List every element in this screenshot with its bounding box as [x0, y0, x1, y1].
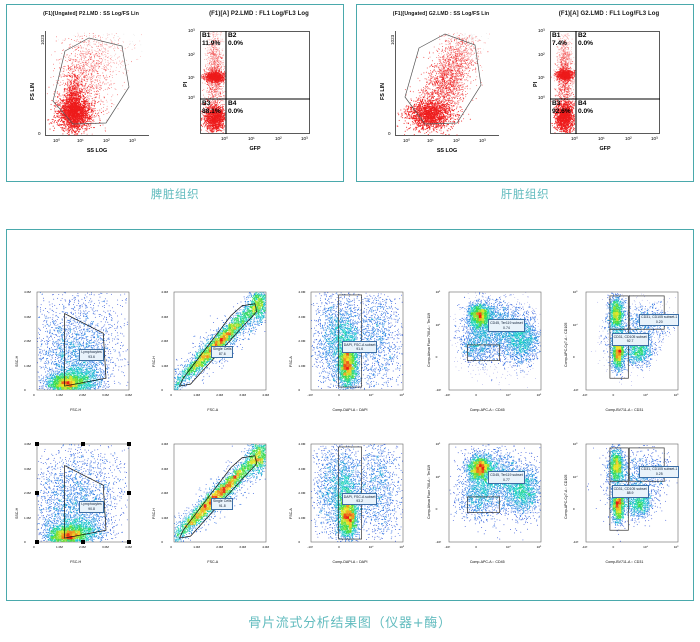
- y-tick: 0: [573, 355, 575, 359]
- gate-label[interactable]: Single Cells87.6: [211, 346, 233, 358]
- y-tick: 2.0M: [161, 491, 168, 495]
- x-tick: 10³: [479, 138, 486, 143]
- x-tick: 0: [33, 393, 35, 397]
- y-tick: 10¹: [538, 75, 545, 80]
- x-tick: 0: [475, 545, 477, 549]
- y-axis-label: FSC-A: [289, 356, 293, 367]
- selection-handle[interactable]: [127, 540, 131, 544]
- gate-name: CD45, Ter119 subset: [490, 321, 523, 326]
- x-tick: 0: [338, 393, 340, 397]
- y-tick: 10⁴: [573, 475, 578, 479]
- y-tick: 10²: [188, 52, 195, 57]
- y-axis-label: FSC-H: [152, 508, 156, 519]
- gate-percent: 93.2: [344, 499, 376, 504]
- y-axis-label: FS LIN: [380, 83, 386, 100]
- x-tick: -10³: [582, 545, 588, 549]
- quadrant-B1: B1 11.9%: [202, 32, 220, 47]
- flow-cytometry-figure: (F1)[Ungated] P2.LMD : SS Log/FS Lin 10⁰…: [0, 0, 700, 642]
- gate-label[interactable]: DAPI, FSC-A subset93.2: [342, 493, 378, 505]
- y-tick: 3.0M: [298, 315, 305, 319]
- gate-percent: 91.8: [213, 504, 231, 509]
- figure-caption: 骨片流式分析结果图（仪器+酶）: [0, 612, 700, 631]
- flow-plot-singlecells[interactable]: Single Cells87.6FSC-AFSC-H01.0M2.0M3.0M4…: [144, 278, 281, 428]
- quadrant-name: B4: [228, 100, 236, 107]
- y-tick: 10⁴: [573, 323, 578, 327]
- x-tick: 0: [338, 545, 340, 549]
- plot-row-1: Lymphocytes90.8FSC-HSSC-H01.0M2.0M3.0M4.…: [7, 430, 693, 580]
- y-tick: -10³: [573, 540, 579, 544]
- quadrant-B3: B3 92.6%: [552, 100, 571, 115]
- quadrant-plot-spleen: (F1)[A] P2.LMD : FL1 Log/FL3 Log B1 11.9…: [175, 5, 343, 181]
- flow-plot-lymphocytes[interactable]: Lymphocytes90.8FSC-HSSC-H01.0M2.0M3.0M4.…: [7, 430, 144, 580]
- y-tick: 0: [24, 540, 26, 544]
- y-tick: 1.0M: [24, 364, 31, 368]
- flow-plot-lymphocytes[interactable]: Lymphocytes93.6FSC-HSSC-H01.0M2.0M3.0M4.…: [7, 278, 144, 428]
- quadrant-B1: B1 7.4%: [552, 32, 567, 47]
- gate-label[interactable]: CD31, CD105 subset92.7: [612, 333, 649, 345]
- gate-label[interactable]: CD45, Ter119 subset0.74: [488, 319, 525, 331]
- gate-label[interactable]: Lymphocytes90.8: [79, 501, 104, 513]
- y-axis-label: SSC-H: [15, 508, 19, 519]
- quadrant-B2: B2 0.0%: [228, 32, 243, 47]
- selection-handle[interactable]: [35, 442, 39, 446]
- x-tick: 10⁵: [537, 545, 542, 549]
- x-tick: 10⁴: [643, 545, 648, 549]
- x-tick: 10⁴: [506, 545, 511, 549]
- x-tick: 0: [170, 545, 172, 549]
- x-tick: 10⁵: [399, 545, 404, 549]
- x-tick: 4.0M: [262, 393, 269, 397]
- x-axis-label: Comp-DAPI-A :: DAPI: [281, 408, 418, 412]
- x-tick: -10³: [445, 545, 451, 549]
- x-tick: 0: [170, 393, 172, 397]
- y-axis-label: Comp-APC-Cy7-A :: CD105: [564, 475, 568, 519]
- y-tick: 10³: [538, 28, 545, 33]
- x-tick: 10¹: [248, 136, 255, 141]
- y-tick: 1023: [40, 35, 45, 45]
- quadrant-B2: B2 0.0%: [578, 32, 593, 47]
- y-tick: 0: [24, 388, 26, 392]
- quadrant-value: 92.6%: [552, 108, 571, 115]
- x-tick: 2.0M: [216, 545, 223, 549]
- quadrant-value: 11.9%: [202, 40, 220, 47]
- y-tick: 4.0M: [298, 442, 305, 446]
- y-tick: 0: [436, 355, 438, 359]
- gate-label[interactable]: DAPI, FSC-A subset91.6: [342, 341, 378, 353]
- y-tick: 10⁴: [436, 323, 441, 327]
- x-axis-label: GFP: [550, 146, 660, 152]
- x-tick: 4.0M: [262, 545, 269, 549]
- x-tick: 10⁰: [221, 136, 228, 142]
- flow-plot-cd31[interactable]: CD31, CD105 subset-10.25CD31, CD105 subs…: [556, 430, 693, 580]
- y-tick: 3.0M: [24, 315, 31, 319]
- x-tick: 10¹: [77, 138, 84, 143]
- quadrant-name: B1: [202, 32, 210, 39]
- quadrant-name: B1: [552, 32, 560, 39]
- flow-plot-dapi[interactable]: DAPI, FSC-A subset91.6Comp-DAPI-A :: DAP…: [281, 278, 418, 428]
- quadrant-value: 0.0%: [228, 40, 243, 47]
- gate-percent: 0.25: [641, 472, 677, 477]
- y-tick: 10⁵: [436, 290, 441, 294]
- x-tick: 10³: [129, 138, 136, 143]
- x-tick: 3.0M: [239, 393, 246, 397]
- gate-label[interactable]: Single Cells91.8: [211, 498, 233, 510]
- x-tick: 10³: [301, 136, 308, 141]
- x-axis-label: SS LOG: [45, 148, 149, 154]
- y-tick: 1.0M: [161, 364, 168, 368]
- y-tick: 10¹: [188, 75, 195, 80]
- y-tick: 0: [161, 388, 163, 392]
- y-axis-label: FSC-A: [289, 508, 293, 519]
- gate-percent: 91.6: [344, 347, 376, 352]
- y-tick: 10⁰: [538, 95, 545, 101]
- y-tick: 0: [161, 540, 163, 544]
- x-axis-label: FSC-A: [144, 408, 281, 412]
- y-tick: 10⁵: [573, 290, 578, 294]
- selection-handle[interactable]: [127, 442, 131, 446]
- flow-plot-dapi[interactable]: DAPI, FSC-A subset93.2Comp-DAPI-A :: DAP…: [281, 430, 418, 580]
- x-tick: 3.0M: [102, 545, 109, 549]
- quadrant-B3: B3 88.1%: [202, 100, 221, 115]
- x-tick: 10⁴: [506, 393, 511, 397]
- caption-liver: 肝脏组织: [350, 186, 700, 202]
- y-axis-label: Comp-Alexa Fluor 700-A :: Ter119: [427, 313, 431, 367]
- y-tick: 4.0M: [24, 442, 31, 446]
- x-tick: 10²: [275, 136, 282, 141]
- quadrant-name: B2: [228, 32, 236, 39]
- y-tick: 2.0M: [161, 339, 168, 343]
- selection-handle[interactable]: [35, 491, 39, 495]
- y-axis-label: PI: [533, 82, 539, 87]
- x-tick: 4.0M: [125, 545, 132, 549]
- x-tick: 4.0M: [125, 393, 132, 397]
- x-tick: 10⁵: [399, 393, 404, 397]
- y-tick: 1.0M: [298, 516, 305, 520]
- quadrant-value: 88.1%: [202, 108, 221, 115]
- gate-label[interactable]: CD31, CD105 subset-10.20: [639, 314, 679, 326]
- gate-percent: 0.77: [490, 478, 523, 483]
- x-tick: 10³: [651, 136, 658, 141]
- x-axis-label: Comp-APC-A :: CD45: [419, 408, 556, 412]
- y-axis-label: Comp-Alexa Fluor 700-A :: Ter119: [427, 465, 431, 519]
- y-tick: 2.0M: [24, 339, 31, 343]
- gate-percent: 93.6: [81, 355, 102, 360]
- quadrant-value: 0.0%: [578, 40, 593, 47]
- x-tick: -10³: [445, 393, 451, 397]
- x-axis-label: Comp-DAPI-A :: DAPI: [281, 560, 418, 564]
- y-tick: 2.0M: [24, 491, 31, 495]
- x-tick: 10¹: [598, 136, 605, 141]
- caption-spleen: 脾脏组织: [0, 186, 350, 202]
- x-axis-label: FSC-H: [7, 560, 144, 564]
- y-tick: 10³: [188, 28, 195, 33]
- y-tick: 4.0M: [161, 442, 168, 446]
- x-tick: 0: [612, 393, 614, 397]
- gate-label[interactable]: CD31, CD105 subset88.9: [612, 485, 649, 497]
- x-tick: -10³: [307, 393, 313, 397]
- y-tick: 0: [298, 388, 300, 392]
- x-tick: 10⁴: [369, 393, 374, 397]
- quadrant-name: B3: [202, 100, 210, 107]
- x-tick: 1.0M: [193, 545, 200, 549]
- quadrant-value: 0.0%: [228, 108, 243, 115]
- quadrant-B4: B4 0.0%: [228, 100, 243, 115]
- x-axis-label: FSC-A: [144, 560, 281, 564]
- x-tick: 10⁰: [403, 138, 410, 144]
- x-tick: 10⁴: [643, 393, 648, 397]
- x-tick: 2.0M: [216, 393, 223, 397]
- y-tick: 3.0M: [161, 315, 168, 319]
- x-tick: 0: [475, 393, 477, 397]
- quadrant-value: 0.0%: [578, 108, 593, 115]
- gate-percent: 90.8: [81, 507, 102, 512]
- y-tick: 1023: [390, 35, 395, 45]
- selection-handle[interactable]: [35, 540, 39, 544]
- y-tick: 3.0M: [24, 467, 31, 471]
- y-tick: 10²: [538, 52, 545, 57]
- flow-plot-cd31[interactable]: CD31, CD105 subset-10.20CD31, CD105 subs…: [556, 278, 693, 428]
- y-tick: 4.0M: [298, 290, 305, 294]
- x-tick: 10⁵: [674, 545, 679, 549]
- x-axis-label: SS LOG: [395, 148, 499, 154]
- x-tick: 3.0M: [239, 545, 246, 549]
- y-tick: -10³: [436, 540, 442, 544]
- y-tick: 3.0M: [161, 467, 168, 471]
- y-axis-label: FSC-H: [152, 356, 156, 367]
- y-axis-label: SSC-H: [15, 356, 19, 367]
- x-tick: -10³: [307, 545, 313, 549]
- gate-percent: 87.6: [213, 352, 231, 357]
- quadrant-B4: B4 0.0%: [578, 100, 593, 115]
- x-tick: 1.0M: [193, 393, 200, 397]
- y-tick: 1.0M: [24, 516, 31, 520]
- quadrant-plot-liver: (F1)[A] G2.LMD : FL1 Log/FL3 Log B1 7.4%…: [525, 5, 693, 181]
- y-tick: 0: [38, 131, 41, 136]
- bone-chip-analysis-panel: Lymphocytes93.6FSC-HSSC-H01.0M2.0M3.0M4.…: [6, 229, 694, 601]
- y-tick: 4.0M: [161, 290, 168, 294]
- x-tick: 10⁴: [369, 545, 374, 549]
- y-tick: 3.0M: [298, 467, 305, 471]
- gate-percent: 0.74: [490, 326, 523, 331]
- x-axis-label: FSC-H: [7, 408, 144, 412]
- quadrant-name: B3: [552, 100, 560, 107]
- top-panel-row: (F1)[Ungated] P2.LMD : SS Log/FS Lin 10⁰…: [0, 4, 700, 182]
- gate-label[interactable]: Lymphocytes93.6: [79, 349, 104, 361]
- y-tick: -10³: [436, 388, 442, 392]
- x-tick: 10²: [625, 136, 632, 141]
- y-axis-label: FS LIN: [30, 83, 36, 100]
- x-tick: 2.0M: [79, 393, 86, 397]
- y-tick: 0: [436, 507, 438, 511]
- scatter-plot-spleen: (F1)[Ungated] P2.LMD : SS Log/FS Lin 10⁰…: [7, 5, 175, 181]
- x-axis-label: Comp-BV711-A :: CD31: [556, 560, 693, 564]
- x-tick: 10⁵: [537, 393, 542, 397]
- plot-row-0: Lymphocytes93.6FSC-HSSC-H01.0M2.0M3.0M4.…: [7, 278, 693, 428]
- y-tick: 4.0M: [24, 290, 31, 294]
- y-tick: -10³: [573, 388, 579, 392]
- scatter-plot-liver: (F1)[Ungated] G2.LMD : SS Log/FS Lin 10⁰…: [357, 5, 525, 181]
- y-tick: 0: [298, 540, 300, 544]
- y-tick: 2.0M: [298, 339, 305, 343]
- gate-label[interactable]: CD45, Ter119 subset0.77: [488, 471, 525, 483]
- gate-name: CD45, Ter119 subset: [490, 473, 523, 478]
- x-tick: 10⁰: [53, 138, 60, 144]
- selection-handle[interactable]: [81, 442, 85, 446]
- x-tick: 10⁵: [674, 393, 679, 397]
- x-axis-label: GFP: [200, 146, 310, 152]
- y-tick: 0: [573, 507, 575, 511]
- flow-panel-spleen: (F1)[Ungated] P2.LMD : SS Log/FS Lin 10⁰…: [6, 4, 344, 182]
- x-tick: 0: [612, 545, 614, 549]
- y-tick: 10⁴: [436, 475, 441, 479]
- quadrant-value: 7.4%: [552, 40, 567, 47]
- x-tick: -10³: [582, 393, 588, 397]
- x-tick: 10²: [453, 138, 460, 143]
- gate-percent: 92.7: [614, 339, 647, 344]
- selection-handle[interactable]: [127, 491, 131, 495]
- y-tick: 10⁵: [573, 442, 578, 446]
- x-tick: 10²: [103, 138, 110, 143]
- flow-plot-singlecells[interactable]: Single Cells91.8FSC-AFSC-H01.0M2.0M3.0M4…: [144, 430, 281, 580]
- x-tick: 10⁰: [571, 136, 578, 142]
- y-tick: 1.0M: [161, 516, 168, 520]
- quadrant-name: B2: [578, 32, 586, 39]
- x-tick: 0: [33, 545, 35, 549]
- gate-percent: 0.20: [641, 320, 677, 325]
- gate-label[interactable]: CD31, CD105 subset-10.25: [639, 466, 679, 478]
- x-tick: 1.0M: [56, 393, 63, 397]
- y-tick: 1.0M: [298, 364, 305, 368]
- flow-plot-cd45[interactable]: CD45, Ter119 subset0.77Comp-APC-A :: CD4…: [419, 430, 556, 580]
- x-tick: 2.0M: [79, 545, 86, 549]
- flow-plot-cd45[interactable]: CD45, Ter119 subset0.74Comp-APC-A :: CD4…: [419, 278, 556, 428]
- x-axis-label: Comp-BV711-A :: CD31: [556, 408, 693, 412]
- x-tick: 3.0M: [102, 393, 109, 397]
- y-tick: 0: [388, 131, 391, 136]
- gate-percent: 88.9: [614, 491, 647, 496]
- selection-handle[interactable]: [81, 540, 85, 544]
- y-axis-label: Comp-APC-Cy7-A :: CD105: [564, 323, 568, 367]
- quadrant-name: B4: [578, 100, 586, 107]
- x-axis-label: Comp-APC-A :: CD45: [419, 560, 556, 564]
- tissue-caption-row: 脾脏组织 肝脏组织: [0, 186, 700, 208]
- x-tick: 10¹: [427, 138, 434, 143]
- flow-panel-liver: (F1)[Ungated] G2.LMD : SS Log/FS Lin 10⁰…: [356, 4, 694, 182]
- y-tick: 10⁰: [188, 95, 195, 101]
- y-tick: 2.0M: [298, 491, 305, 495]
- x-tick: 1.0M: [56, 545, 63, 549]
- y-axis-label: PI: [183, 82, 189, 87]
- y-tick: 10⁵: [436, 442, 441, 446]
